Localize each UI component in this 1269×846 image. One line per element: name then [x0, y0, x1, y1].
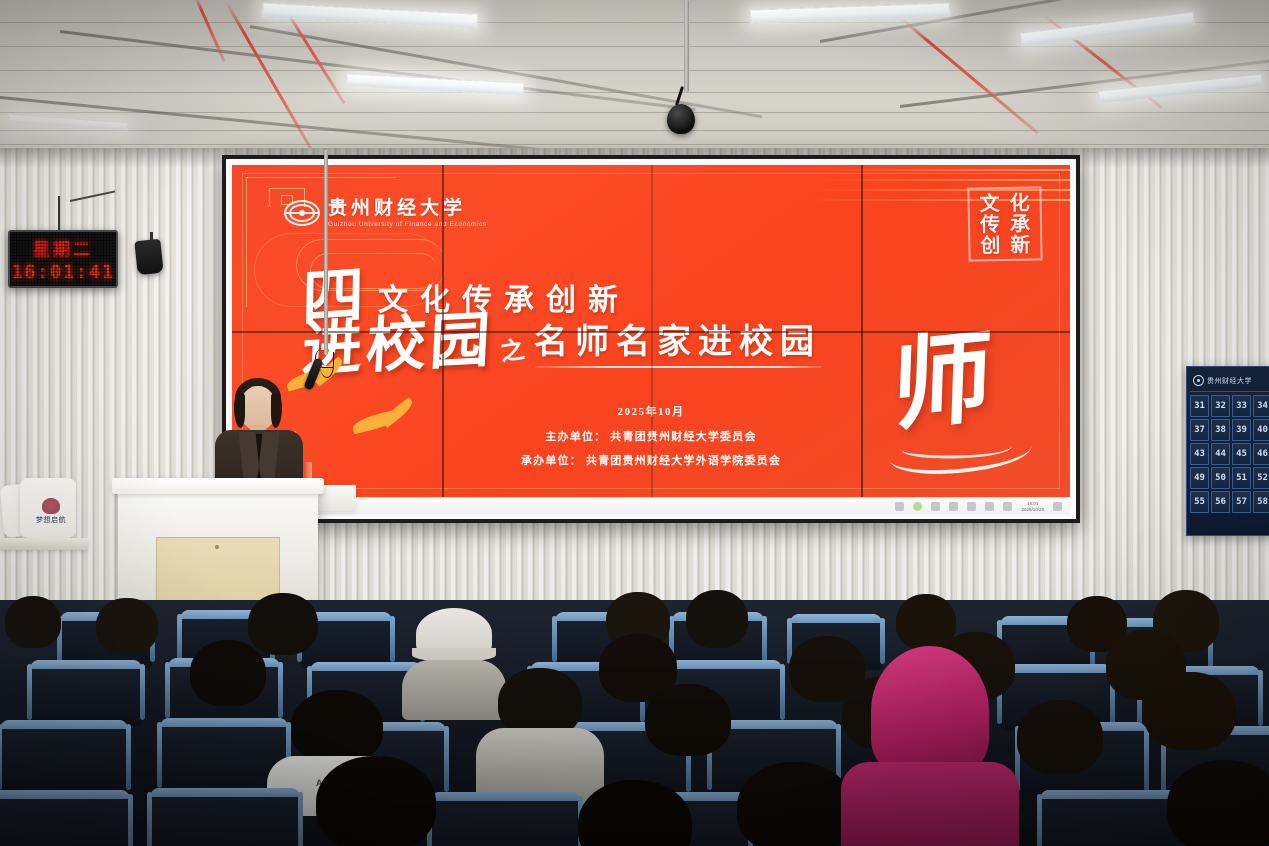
board-cell[interactable]: 32 [1211, 395, 1230, 417]
microphone-pole [324, 150, 328, 355]
notification-icon[interactable] [1053, 502, 1062, 511]
wall-mounted-speaker [134, 239, 163, 276]
university-seal-icon [284, 195, 320, 231]
ceiling-light [8, 114, 128, 131]
presenter-hair [271, 394, 282, 428]
seal-char: 创 [975, 236, 1005, 258]
video-wall-display[interactable]: 贵州财经大学 Guizhou University of Finance and… [222, 155, 1080, 523]
cushion-logo-text: 梦想启航 [36, 515, 66, 525]
audience-member [1150, 760, 1269, 846]
audience-head [645, 684, 731, 756]
taskbar-clock-date: 2025/10/28 [1021, 507, 1044, 513]
board-cell[interactable]: 44 [1211, 443, 1230, 465]
calligraphy-char-shi: 师 [886, 339, 1036, 479]
board-cell[interactable]: 38 [1211, 419, 1230, 441]
wall-shelf [0, 538, 88, 550]
ceiling-light [750, 3, 950, 24]
ceiling-projector-camera [667, 104, 695, 134]
audience-head [291, 690, 383, 764]
audience-member [180, 640, 276, 726]
board-cell[interactable]: 33 [1232, 395, 1251, 417]
audience-head [96, 598, 158, 654]
podium-screw [215, 545, 219, 549]
board-cell[interactable]: 39 [1232, 419, 1251, 441]
board-cell[interactable]: 55 [1190, 491, 1209, 513]
headline-underline [534, 366, 821, 368]
culture-seal-stamp: 文 化 传 承 创 新 [967, 186, 1042, 261]
audience-head [190, 640, 266, 706]
seat-number-board: 贵州财经大学 31 32 33 34 37 38 39 40 43 44 45 … [1186, 366, 1269, 536]
audience-member [680, 590, 754, 666]
board-cell[interactable]: 50 [1211, 467, 1230, 489]
hoodie-torso [841, 762, 1019, 846]
board-cell[interactable]: 37 [1190, 419, 1209, 441]
board-cell[interactable]: 34 [1253, 395, 1269, 417]
board-cell[interactable]: 49 [1190, 467, 1209, 489]
presenter-hair [234, 394, 245, 428]
audience-head [578, 780, 692, 846]
lecture-hall-photo: 星期二 16:01:41 [0, 0, 1269, 846]
board-cell[interactable]: 52 [1253, 467, 1269, 489]
ceiling [0, 0, 1269, 152]
seat[interactable] [0, 790, 130, 846]
audience-head [316, 756, 436, 846]
clock-day-label: 星期二 [33, 235, 93, 260]
audience-head [686, 590, 748, 648]
headline-connector: 之 [498, 329, 527, 367]
board-cell[interactable]: 45 [1232, 443, 1251, 465]
seal-char: 新 [1005, 235, 1035, 257]
board-header: 贵州财经大学 [1190, 370, 1269, 392]
network-icon[interactable] [931, 502, 940, 511]
audience-head [1144, 672, 1236, 750]
panel-seam [232, 331, 1070, 333]
clock-time: 16:01:41 [11, 261, 115, 283]
audience-member [560, 780, 710, 846]
audience-head [1167, 760, 1269, 846]
board-number-grid: 31 32 33 34 37 38 39 40 43 44 45 46 49 5… [1190, 392, 1269, 513]
presentation-slide: 贵州财经大学 Guizhou University of Finance and… [232, 165, 1070, 497]
projector-mount-rod [684, 0, 689, 92]
audience-head [1017, 700, 1103, 774]
clock-cable [58, 196, 60, 232]
podium-top-surface [112, 478, 324, 494]
cushion-logo-mark-icon [42, 498, 60, 514]
board-cell[interactable]: 58 [1253, 491, 1269, 513]
audience-head [5, 596, 61, 648]
taskbar-clock[interactable]: 16:01 2025/10/28 [1021, 501, 1044, 512]
board-title: 贵州财经大学 [1207, 376, 1252, 386]
audience-member [1000, 700, 1120, 846]
windows-taskbar[interactable]: 16:01 2025/10/28 [232, 497, 1070, 515]
audience-member-pink-hoodie [842, 646, 1017, 846]
board-cell[interactable]: 51 [1232, 467, 1251, 489]
seal-char: 承 [1005, 214, 1035, 236]
calligraphy-glyph: 师 [891, 327, 994, 438]
shield-icon[interactable] [913, 502, 922, 511]
seat[interactable] [30, 660, 142, 726]
board-cell[interactable]: 31 [1190, 395, 1209, 417]
hoodie-hood [871, 646, 989, 776]
seal-char: 传 [975, 215, 1005, 237]
audience-member [0, 596, 66, 666]
board-cell[interactable]: 40 [1253, 419, 1269, 441]
cushion-logo: 梦想启航 [36, 498, 66, 528]
seal-char: 化 [1004, 193, 1034, 215]
input-icon[interactable] [1003, 502, 1012, 511]
chevron-up-icon[interactable] [895, 502, 904, 511]
audience-head [737, 762, 853, 846]
board-cell[interactable]: 43 [1190, 443, 1209, 465]
board-cell[interactable]: 57 [1232, 491, 1251, 513]
seal-char: 文 [974, 194, 1004, 216]
university-name-cn: 贵州财经大学 [328, 199, 487, 218]
university-seal-icon [1193, 375, 1204, 386]
university-name-en: Guizhou University of Finance and Econom… [328, 221, 487, 228]
volume-icon[interactable] [967, 502, 976, 511]
seat[interactable] [150, 788, 300, 846]
ime-icon[interactable] [949, 502, 958, 511]
board-cell[interactable]: 56 [1211, 491, 1230, 513]
seat[interactable] [0, 720, 128, 796]
audience-member [296, 756, 456, 846]
ceiling-track-red [899, 16, 1038, 134]
display-icon[interactable] [985, 502, 994, 511]
university-logo: 贵州财经大学 Guizhou University of Finance and… [284, 195, 487, 231]
microphone-cable [320, 352, 334, 378]
led-wall-clock: 星期二 16:01:41 [8, 230, 118, 288]
ceiling-track-red [195, 0, 226, 62]
board-cell[interactable]: 46 [1253, 443, 1269, 465]
